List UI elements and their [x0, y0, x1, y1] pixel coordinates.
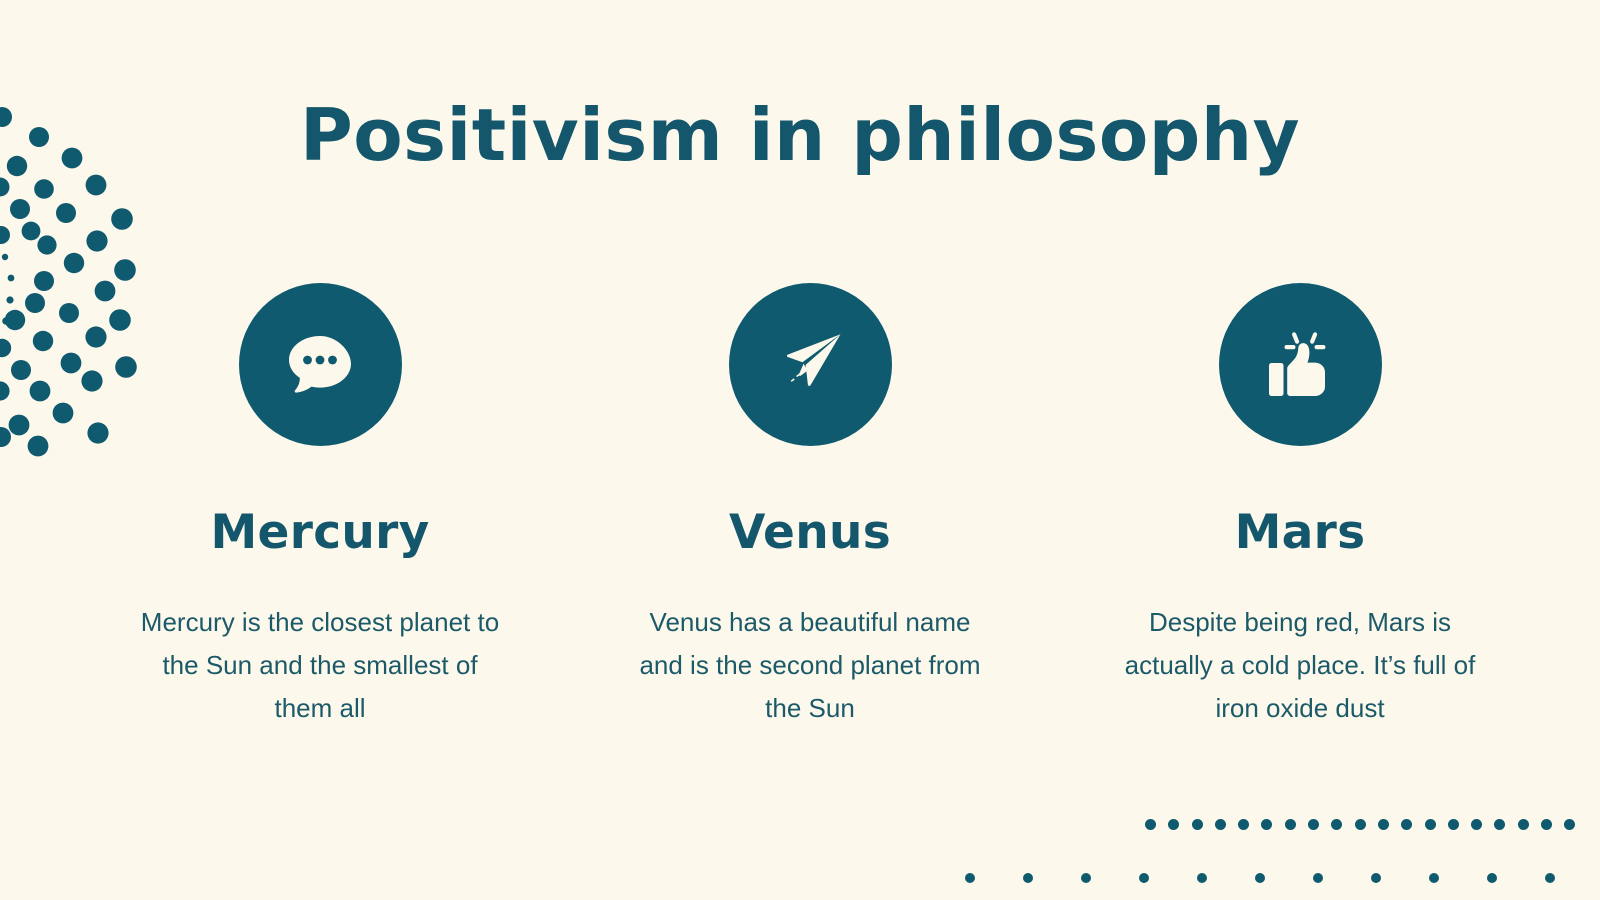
decorative-dot [1261, 819, 1272, 830]
feature-column-mars: Mars Despite being red, Mars is actually… [1090, 283, 1510, 730]
decorative-dot [1197, 873, 1207, 883]
decorative-dot [1139, 873, 1149, 883]
decorative-dot [1545, 873, 1555, 883]
bottom-right-dense-dot-row [1145, 816, 1588, 832]
decorative-dot [1023, 873, 1033, 883]
decorative-dot [1285, 819, 1296, 830]
decorative-dot [965, 873, 975, 883]
page-title: Positivism in philosophy [0, 96, 1600, 175]
decorative-dot [1331, 819, 1342, 830]
decorative-dot [1378, 819, 1389, 830]
decorative-dot [1401, 819, 1412, 830]
decorative-dot [1487, 873, 1497, 883]
decorative-dot [1371, 873, 1381, 883]
decorative-dot [1448, 819, 1459, 830]
decorative-dot [1313, 873, 1323, 883]
speech-bubble-ellipsis-icon [239, 283, 402, 446]
feature-heading-mercury: Mercury [210, 509, 429, 556]
decorative-dot [1429, 873, 1439, 883]
decorative-dot [1541, 819, 1552, 830]
slide-canvas: Positivism in philosophy Mercury Mercury… [0, 0, 1600, 900]
paper-plane-send-icon [729, 283, 892, 446]
thumbs-up-sparkle-icon [1219, 283, 1382, 446]
feature-columns: Mercury Mercury is the closest planet to… [110, 283, 1510, 730]
feature-heading-mars: Mars [1235, 509, 1366, 556]
decorative-dot [1192, 819, 1203, 830]
feature-column-venus: Venus Venus has a beautiful name and is … [600, 283, 1020, 730]
decorative-dot [1215, 819, 1226, 830]
feature-heading-venus: Venus [729, 509, 891, 556]
decorative-dot [1255, 873, 1265, 883]
decorative-dot [1081, 873, 1091, 883]
decorative-dot [1145, 819, 1156, 830]
decorative-dot [1308, 819, 1319, 830]
decorative-dot [1518, 819, 1529, 830]
decorative-dot [1425, 819, 1436, 830]
bottom-right-sparse-dot-row [965, 870, 1600, 886]
feature-body-mars: Despite being red, Mars is actually a co… [1120, 601, 1480, 730]
feature-body-mercury: Mercury is the closest planet to the Sun… [140, 601, 500, 730]
decorative-dot [1168, 819, 1179, 830]
decorative-dot [1471, 819, 1482, 830]
feature-column-mercury: Mercury Mercury is the closest planet to… [110, 283, 530, 730]
decorative-dot [1238, 819, 1249, 830]
decorative-dot [1355, 819, 1366, 830]
feature-body-venus: Venus has a beautiful name and is the se… [630, 601, 990, 730]
decorative-dot [1494, 819, 1505, 830]
decorative-dot [1564, 819, 1575, 830]
